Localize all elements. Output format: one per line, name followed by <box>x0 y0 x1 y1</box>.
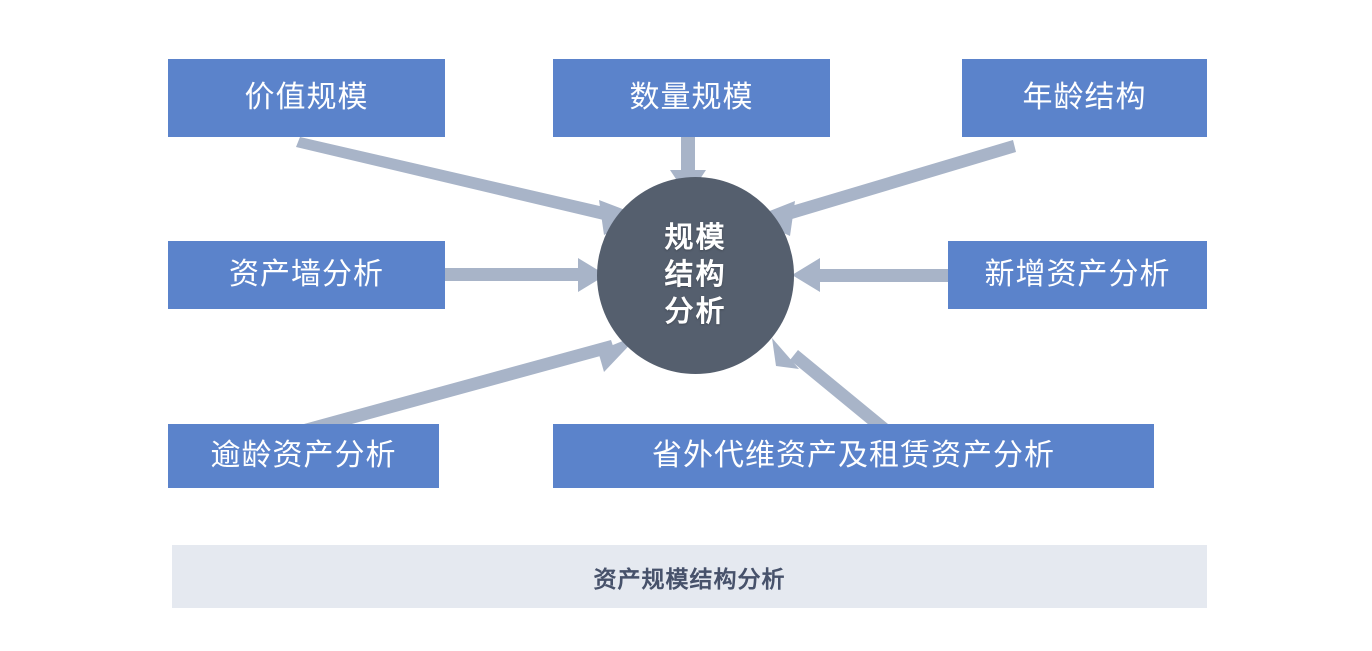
node-new-assets-label: 新增资产分析 <box>985 260 1171 290</box>
arrow-outprovince-lease-to-hub <box>772 338 888 434</box>
arrow-asset-wall-to-hub <box>443 258 606 292</box>
caption-bar: 资产规模结构分析 <box>172 545 1207 608</box>
node-value-scale-label: 价值规模 <box>245 83 369 113</box>
node-value-scale[interactable]: 价值规模 <box>168 59 445 137</box>
caption-title: 资产规模结构分析 <box>594 560 786 594</box>
node-overdue-assets-label: 逾龄资产分析 <box>211 441 397 471</box>
arrow-new-assets-to-hub <box>792 258 950 292</box>
node-new-assets[interactable]: 新增资产分析 <box>948 241 1207 309</box>
node-age-structure[interactable]: 年龄结构 <box>962 59 1207 137</box>
node-age-structure-label: 年龄结构 <box>1023 83 1147 113</box>
arrow-age-structure-to-hub <box>752 140 1016 236</box>
hub-line-2: 结构 <box>664 257 726 294</box>
node-asset-wall-label: 资产墙分析 <box>229 260 384 290</box>
node-asset-wall[interactable]: 资产墙分析 <box>168 241 445 309</box>
diagram-canvas: 价值规模 数量规模 年龄结构 资产墙分析 新增资产分析 逾龄资产分析 省外代维资… <box>0 0 1372 651</box>
node-quantity-scale-label: 数量规模 <box>630 83 754 113</box>
arrow-value-scale-to-hub <box>296 137 641 235</box>
hub-line-1: 规模 <box>664 220 726 257</box>
node-outprovince-lease-label: 省外代维资产及租赁资产分析 <box>652 441 1055 471</box>
center-hub[interactable]: 规模 结构 分析 <box>597 177 794 374</box>
hub-line-3: 分析 <box>664 294 726 331</box>
node-overdue-assets[interactable]: 逾龄资产分析 <box>168 424 439 488</box>
node-outprovince-lease[interactable]: 省外代维资产及租赁资产分析 <box>553 424 1154 488</box>
node-quantity-scale[interactable]: 数量规模 <box>553 59 830 137</box>
arrow-overdue-assets-to-hub <box>304 334 640 436</box>
